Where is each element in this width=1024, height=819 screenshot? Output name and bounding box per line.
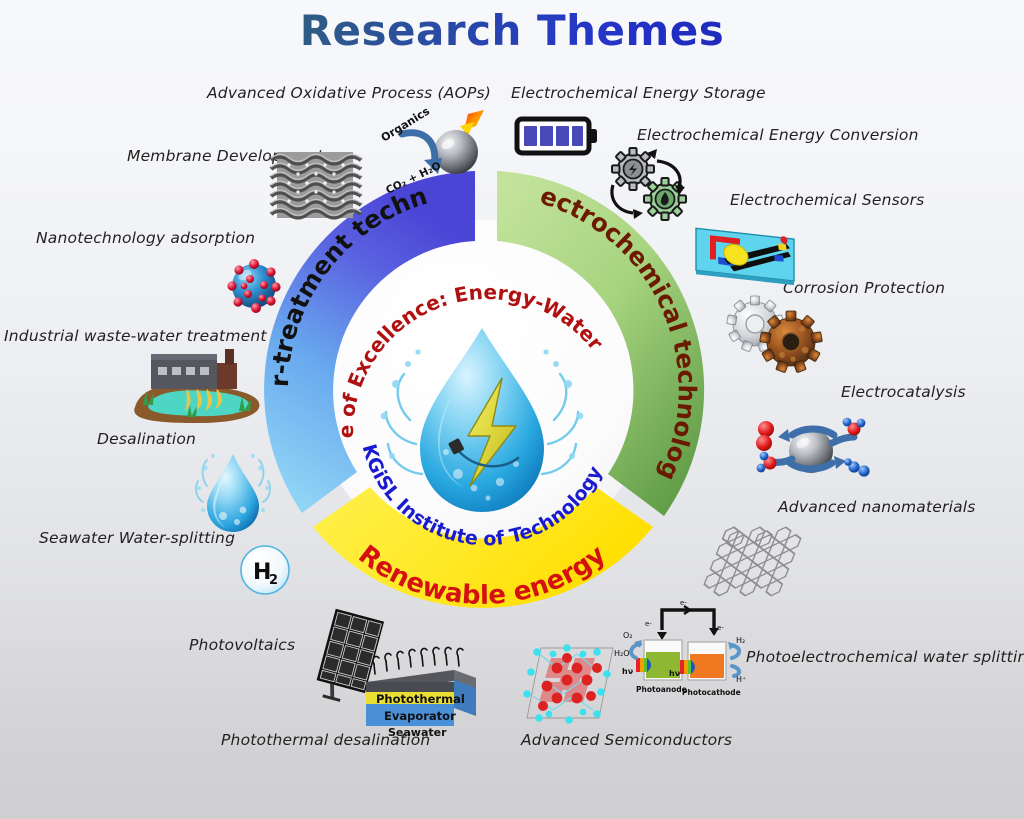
pec-electron-top-label: e-	[680, 599, 687, 607]
pec-hplus-label: H⁺	[736, 675, 746, 684]
wastewater-plant-icon	[127, 341, 267, 427]
photothermal-evaporator-icon: Photothermal Evaporator Seawater	[358, 648, 482, 738]
theme-label-electrocat[interactable]: Electrocatalysis	[841, 383, 966, 401]
hydrogen-subscript-label: 2	[269, 573, 278, 588]
theme-label-pecsplitting[interactable]: Photoelectrochemical water splitting	[746, 648, 1024, 666]
pec-cell-icon: e- e- e- O₂	[614, 596, 750, 696]
seawater-layer-label: Seawater	[388, 726, 447, 739]
theme-label-desalination[interactable]: Desalination	[97, 430, 196, 448]
pec-photocathode-label: Photocathode	[682, 688, 741, 697]
aops-products-label: CO₂ + H₂O	[384, 160, 443, 197]
hydrogen-bubble-icon: H 2	[238, 543, 292, 597]
graphene-lattice-icon	[703, 523, 827, 605]
gears-cycle-icon	[603, 145, 695, 225]
electrocatalysis-icon	[748, 405, 876, 491]
pec-o2-label: O₂	[623, 631, 633, 640]
corroded-gears-icon	[725, 296, 835, 376]
theme-label-aops[interactable]: Advanced Oxidative Process (AOPs)	[207, 84, 491, 102]
pec-hv-right-label: hν	[669, 669, 681, 678]
pec-electron-left-label: e-	[645, 620, 652, 628]
theme-label-storage[interactable]: Electrochemical Energy Storage	[511, 84, 766, 102]
theme-label-corrosion[interactable]: Corrosion Protection	[783, 279, 945, 297]
aops-catalysis-icon: Organics CO₂ + H₂O	[380, 108, 495, 198]
battery-icon	[515, 115, 599, 157]
evaporator-layer-label: Evaporator	[384, 709, 456, 723]
pec-hv-left-label: hν	[622, 667, 634, 676]
theme-label-nanomaterials[interactable]: Advanced nanomaterials	[778, 498, 976, 516]
water-droplet-icon	[195, 448, 271, 538]
pec-h2o-label: H₂O	[614, 649, 630, 658]
pec-h2-label: H₂	[736, 636, 745, 645]
theme-label-conversion[interactable]: Electrochemical Energy Conversion	[637, 126, 919, 144]
crystal-lattice-icon	[513, 636, 629, 734]
membrane-weave-icon	[277, 152, 353, 218]
pec-photoanode-label: Photoanode	[636, 685, 687, 694]
nanoparticle-icon	[226, 258, 282, 314]
theme-label-sensors[interactable]: Electrochemical Sensors	[730, 191, 924, 209]
photothermal-layer-label: Photothermal	[376, 692, 465, 706]
theme-label-photovoltaics[interactable]: Photovoltaics	[189, 636, 295, 654]
sensor-chip-icon	[690, 215, 802, 293]
infographic-canvas: Research Themes	[0, 0, 1024, 819]
pec-electron-right-label: e-	[717, 624, 724, 632]
theme-label-nanoadsorp[interactable]: Nanotechnology adsorption	[36, 229, 255, 247]
